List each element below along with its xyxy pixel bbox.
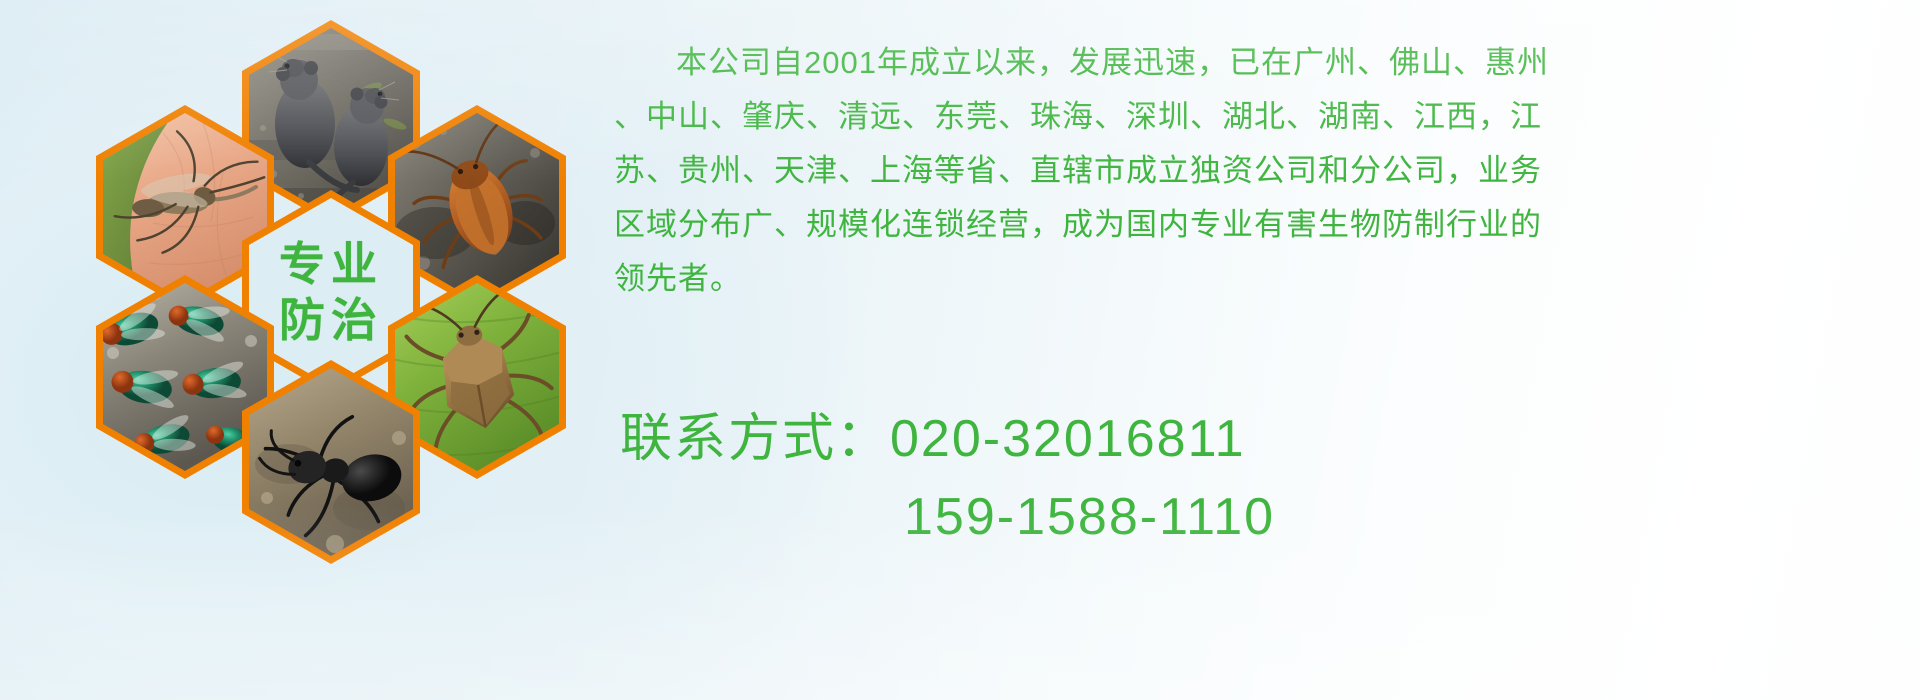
honeycomb-graphic: 专业 防治 (96, 8, 596, 568)
intro-paragraph: 本公司自2001年成立以来，发展迅速，已在广州、佛山、惠州 、中山、肇庆、清远、… (614, 36, 1914, 306)
banner-root: 专业 防治 (0, 0, 1920, 700)
intro-line-3: 苏、贵州、天津、上海等省、直辖市成立独资公司和分公司，业务 (614, 144, 1914, 198)
intro-line-4: 区域分布广、规模化连锁经营，成为国内专业有害生物防制行业的 (614, 198, 1914, 252)
contact-phone-landline[interactable]: 联系方式：020-32016811 (614, 400, 1914, 478)
ant-photo (249, 368, 413, 556)
center-label-line2: 防治 (279, 292, 383, 348)
intro-line-1: 本公司自2001年成立以来，发展迅速，已在广州、佛山、惠州 (614, 36, 1914, 90)
center-label-line1: 专业 (279, 236, 383, 292)
center-label: 专业 防治 (279, 236, 383, 348)
intro-line-2: 、中山、肇庆、清远、东莞、珠海、深圳、湖北、湖南、江西，江 (614, 90, 1914, 144)
contact-block: 联系方式：020-32016811 159-1588-1110 (614, 400, 1914, 556)
contact-phone-mobile[interactable]: 159-1588-1110 (614, 478, 1914, 556)
intro-line-5: 领先者。 (614, 252, 1914, 306)
